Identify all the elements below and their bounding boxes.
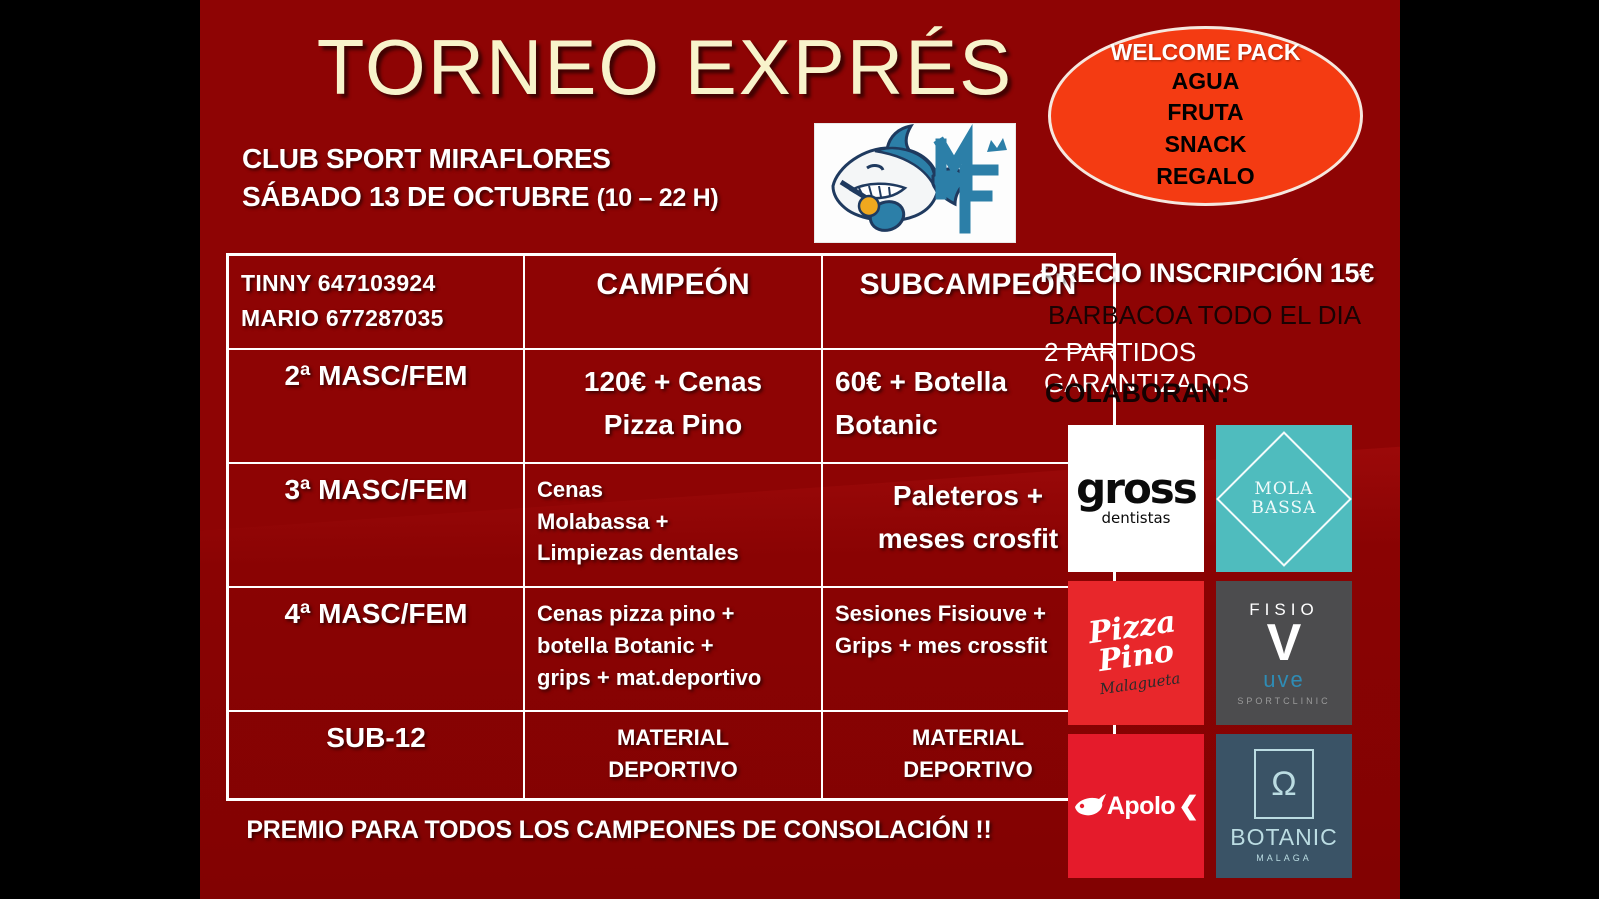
botanic-subtext: MALAGA [1230,853,1338,863]
category-cell: 4ª MASC/FEM [228,587,525,711]
prize-table: TINNY 647103924 MARIO 677287035 CAMPEÓN … [226,253,1116,801]
club-info-block: CLUB SPORT MIRAFLORES SÁBADO 13 DE OCTUB… [242,140,842,216]
contact-tinny: TINNY 647103924 [241,266,511,301]
sponsor-logo-fisiouve: FISIO V uve SPORTCLINIC [1216,581,1352,725]
campeon-cell: 120€ + Cenas Pizza Pino [524,349,822,463]
sponsor-logo-gross-dentistas: gross dentistas [1068,425,1204,572]
page-title: TORNEO EXPRÉS [200,22,1130,113]
campeon-cell: Cenas Molabassa + Limpiezas dentales [524,463,822,587]
shark-mascot-mf-logo [814,123,1016,243]
mola-bassa-line2: BASSA [1251,498,1316,517]
botanic-wordmark: BOTANIC [1230,824,1338,851]
welcome-pack-badge: WELCOME PACK AGUA FRUTA SNACK REGALO [1048,26,1363,206]
botanic-monogram-icon: Ω [1254,749,1314,819]
sponsors-heading: COLABORAN: [1045,378,1395,409]
poster-canvas: TORNEO EXPRÉS CLUB SPORT MIRAFLORES SÁBA… [0,0,1599,899]
table-row: 2ª MASC/FEM 120€ + Cenas Pizza Pino 60€ … [228,349,1115,463]
apolo-chevron-icon: ❮ [1178,791,1199,821]
apolo-wordmark: Apolo [1107,792,1175,821]
category-cell: 2ª MASC/FEM [228,349,525,463]
event-date: SÁBADO 13 DE OCTUBRE (10 – 22 H) [242,178,842,216]
sponsor-logo-pizza-pino: Pizza Pino Malagueta [1068,581,1204,725]
welcome-pack-item-agua: AGUA [1172,66,1240,98]
table-row-header: TINNY 647103924 MARIO 677287035 CAMPEÓN … [228,255,1115,349]
welcome-pack-title: WELCOME PACK [1111,39,1301,65]
club-name: CLUB SPORT MIRAFLORES [242,140,842,178]
sponsor-logo-botanic: Ω BOTANIC MALAGA [1216,734,1352,878]
campeon-cell: MATERIAL DEPORTIVO [524,711,822,799]
welcome-pack-item-snack: SNACK [1165,129,1247,161]
poster-panel: TORNEO EXPRÉS CLUB SPORT MIRAFLORES SÁBA… [200,0,1400,899]
fisio-uve-text: uve [1237,667,1330,693]
contact-mario: MARIO 677287035 [241,301,511,336]
category-cell: 3ª MASC/FEM [228,463,525,587]
welcome-pack-item-fruta: FRUTA [1167,97,1243,129]
campeon-cell: Cenas pizza pino + botella Botanic + gri… [524,587,822,711]
barbecue-note: BARBACOA TODO EL DIA [1048,300,1398,331]
column-header-campeon: CAMPEÓN [524,255,822,349]
mola-bassa-diamond-icon: MOLA BASSA [1216,431,1352,567]
fisio-bottom-text: SPORTCLINIC [1237,696,1330,706]
footer-note: PREMIO PARA TODOS LOS CAMPEONES DE CONSO… [200,816,1038,845]
apolo-fish-icon [1073,793,1107,819]
sponsor-grid: gross dentistas MOLA BASSA Pizza Pino Ma… [1068,425,1352,878]
sponsor-logo-mola-bassa: MOLA BASSA [1216,425,1352,572]
welcome-pack-item-regalo: REGALO [1156,161,1254,193]
table-row: 4ª MASC/FEM Cenas pizza pino + botella B… [228,587,1115,711]
fisio-v-mark-icon: V [1237,620,1330,667]
mola-bassa-line1: MOLA [1251,480,1316,499]
table-row: SUB-12 MATERIAL DEPORTIVO MATERIAL DEPOR… [228,711,1115,799]
event-date-text: SÁBADO 13 DE OCTUBRE [242,181,597,212]
category-cell: SUB-12 [228,711,525,799]
table-row: 3ª MASC/FEM Cenas Molabassa + Limpiezas … [228,463,1115,587]
event-hours-text: (10 – 22 H) [597,184,719,212]
registration-price: PRECIO INSCRIPCIÓN 15€ [1040,258,1390,289]
sponsor-logo-apolo: Apolo ❮ [1068,734,1204,878]
contact-cell: TINNY 647103924 MARIO 677287035 [228,255,525,349]
gross-wordmark: gross [1076,470,1196,508]
